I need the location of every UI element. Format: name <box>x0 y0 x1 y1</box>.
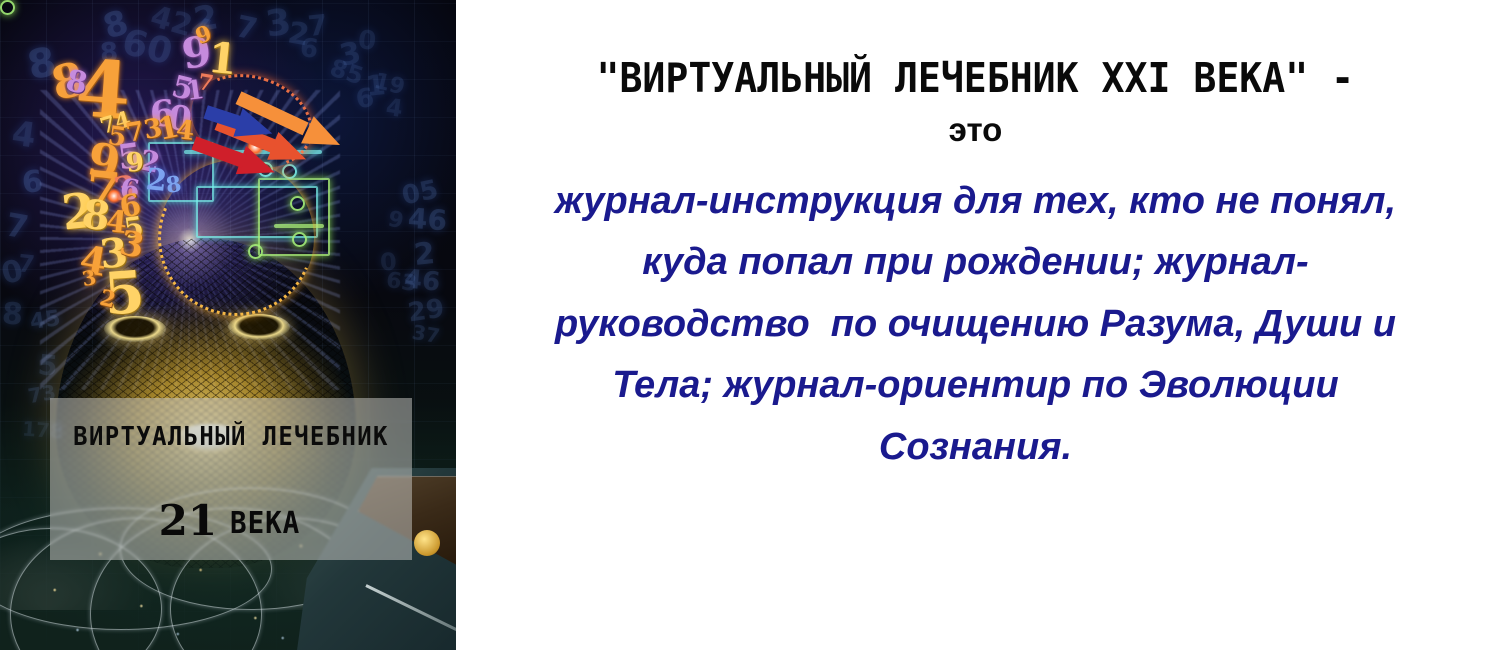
cover-ghost-digit: 6 <box>298 35 320 63</box>
cover-bright-digit: 8 <box>165 173 183 197</box>
circuit-pad-4 <box>0 0 15 15</box>
cover-title-line2: 21ВЕКА <box>50 496 412 545</box>
cover-ghost-digit: 63 <box>385 270 418 296</box>
cover-ghost-digit: 46 <box>407 205 448 236</box>
cover-title-line1: ВИРТУАЛЬНЫЙ ЛЕЧЕБНИК <box>64 422 397 452</box>
text-pane: "ВИРТУАЛЬНЫЙ ЛЕЧЕБНИК XXI ВЕКА" - это жу… <box>456 0 1495 650</box>
cover-ghost-digit: 7 <box>3 208 30 243</box>
cover-bright-digit: 4 <box>175 117 196 145</box>
page-title: "ВИРТУАЛЬНЫЙ ЛЕЧЕБНИК XXI ВЕКА" - <box>597 56 1355 100</box>
page-root: 8467078455731788608424273276385011964054… <box>0 0 1495 650</box>
cover-ghost-digit: 4 <box>10 117 38 154</box>
cover-title-plate: ВИРТУАЛЬНЫЙ ЛЕЧЕБНИК 21ВЕКА <box>50 398 412 560</box>
cover-ghost-digit: 9 <box>386 209 406 234</box>
cover-ghost-digit: 8 <box>1 299 24 330</box>
face-eye-right <box>228 314 290 340</box>
cover-title-number: 21 <box>159 496 217 545</box>
body-paragraph: журнал-инструкция для тех, кто не понял,… <box>476 171 1476 479</box>
cover-ghost-digit: 7 <box>17 251 36 277</box>
cover-title-word: ВЕКА <box>230 506 300 541</box>
book-gold-emblem <box>414 530 440 556</box>
subtitle-eto: это <box>949 112 1003 148</box>
magazine-cover-image: 8467078455731788608424273276385011964054… <box>0 0 456 650</box>
cover-ghost-digit: 37 <box>410 322 441 347</box>
cover-ghost-digit: 0 <box>357 27 378 55</box>
cover-ghost-digit: 4 <box>384 95 404 121</box>
